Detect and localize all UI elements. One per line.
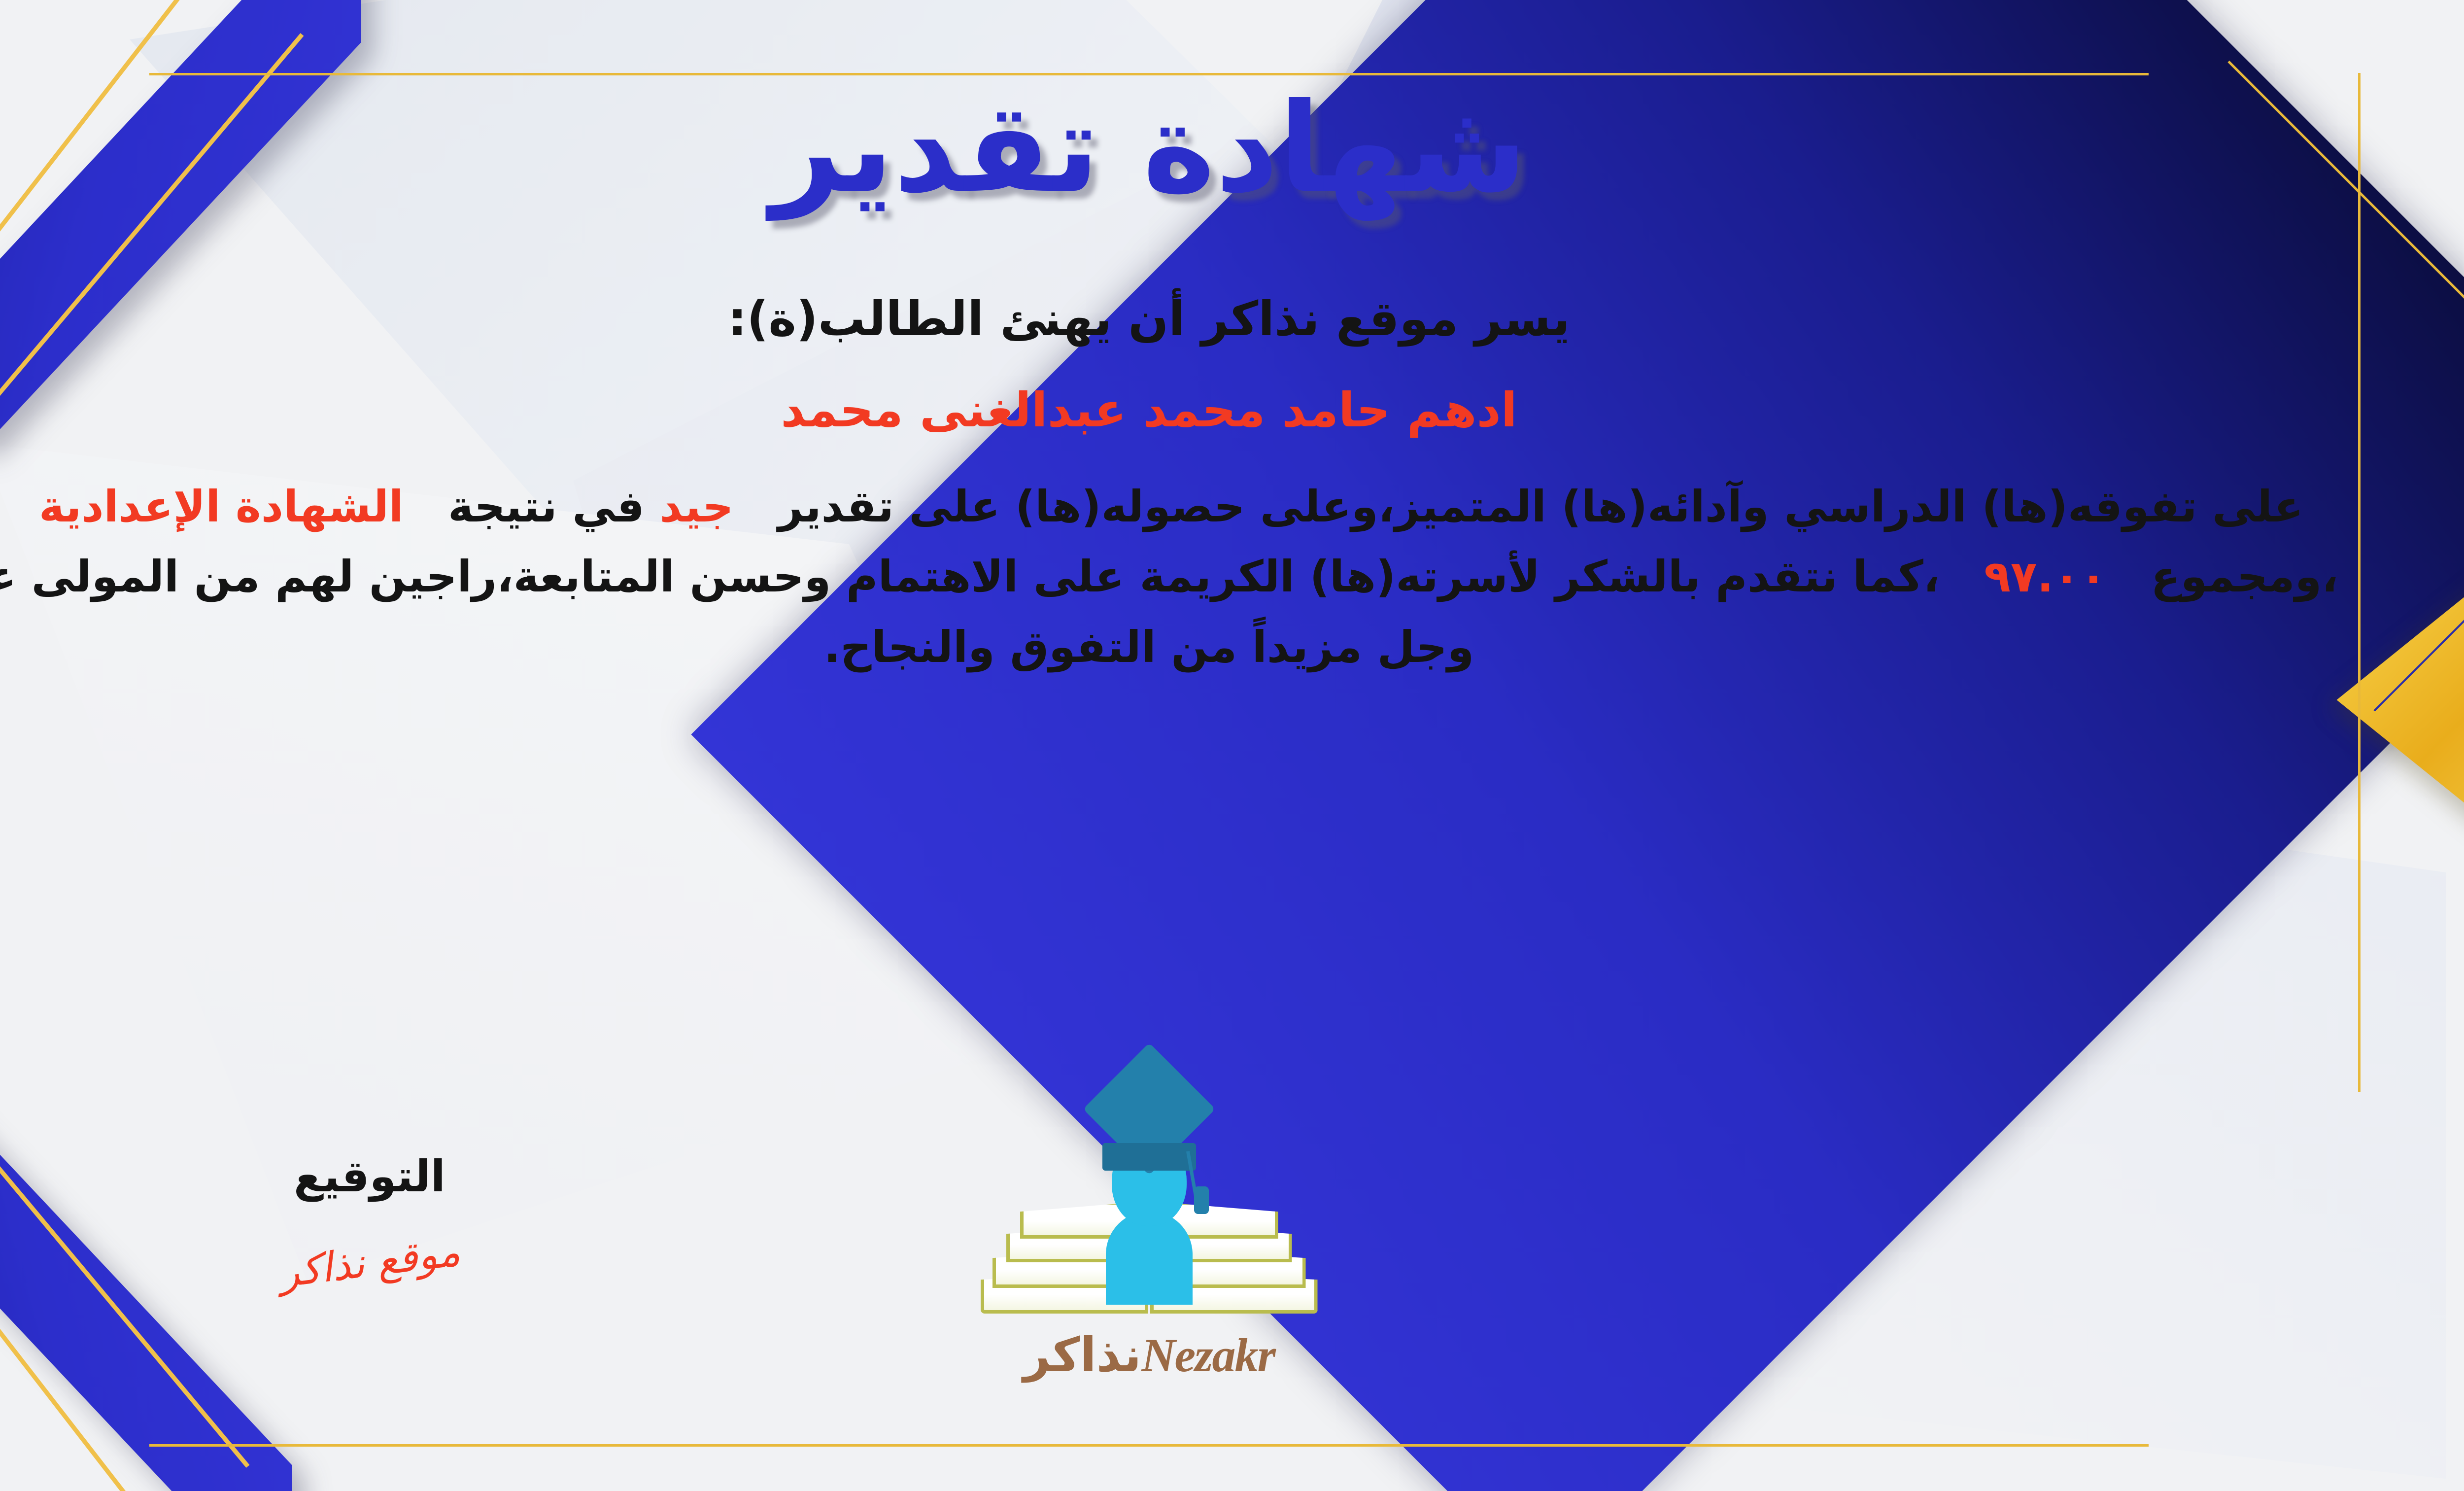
- certificate-body: يسر موقع نذاكر أن يهنئ الطالب(ة): ادهم ح…: [0, 287, 2464, 683]
- paragraph-line-6: مزيداً من التفوق والنجاح.: [824, 622, 1362, 672]
- grade-value: جيد: [660, 481, 734, 532]
- logo-mark: [977, 1111, 1322, 1318]
- signature-block: التوقيع موقع نذاكر: [197, 1151, 542, 1286]
- paragraph-part-2: في نتيجة: [448, 481, 645, 532]
- exam-name: الشهادة الإعدادية: [39, 481, 404, 532]
- paragraph-part-3: ،ومجموع: [2151, 551, 2338, 602]
- certificate-content: شهادة تقدير يسر موقع نذاكر أن يهنئ الطال…: [0, 0, 2464, 1491]
- certificate-title: شهادة تقدير: [771, 84, 1527, 213]
- signature-handwritten: موقع نذاكر: [277, 1228, 463, 1297]
- site-logo: Nezakrنذاكر: [962, 1111, 1336, 1383]
- graduation-cap-band-icon: [1102, 1143, 1196, 1171]
- intro-line: يسر موقع نذاكر أن يهنئ الطالب(ة):: [0, 287, 2464, 351]
- logo-wordmark: Nezakrنذاكر: [962, 1327, 1336, 1383]
- paragraph-part-4: ،كما نتقدم بالشكر لأسرته(ها): [1310, 551, 1940, 602]
- student-name: ادهم حامد محمد عبدالغنى محمد: [0, 380, 2464, 441]
- certificate-page: شهادة تقدير يسر موقع نذاكر أن يهنئ الطال…: [0, 0, 2464, 1491]
- logo-latin-name: Nezakr: [1141, 1329, 1275, 1382]
- graduation-tassel-icon: [1194, 1186, 1209, 1214]
- signature-label: التوقيع: [197, 1151, 542, 1202]
- paragraph-part-1: على تفوقه(ها) الدراسي وآدائه(ها) المتميز…: [778, 481, 2303, 532]
- logo-arabic-name: نذاكر: [1023, 1327, 1141, 1383]
- achievement-paragraph: على تفوقه(ها) الدراسي وآدائه(ها) المتميز…: [0, 472, 2464, 683]
- total-score: ٩٧.٠٠: [1984, 551, 2106, 602]
- certificate-footer: التوقيع موقع نذاكر: [0, 1111, 2464, 1417]
